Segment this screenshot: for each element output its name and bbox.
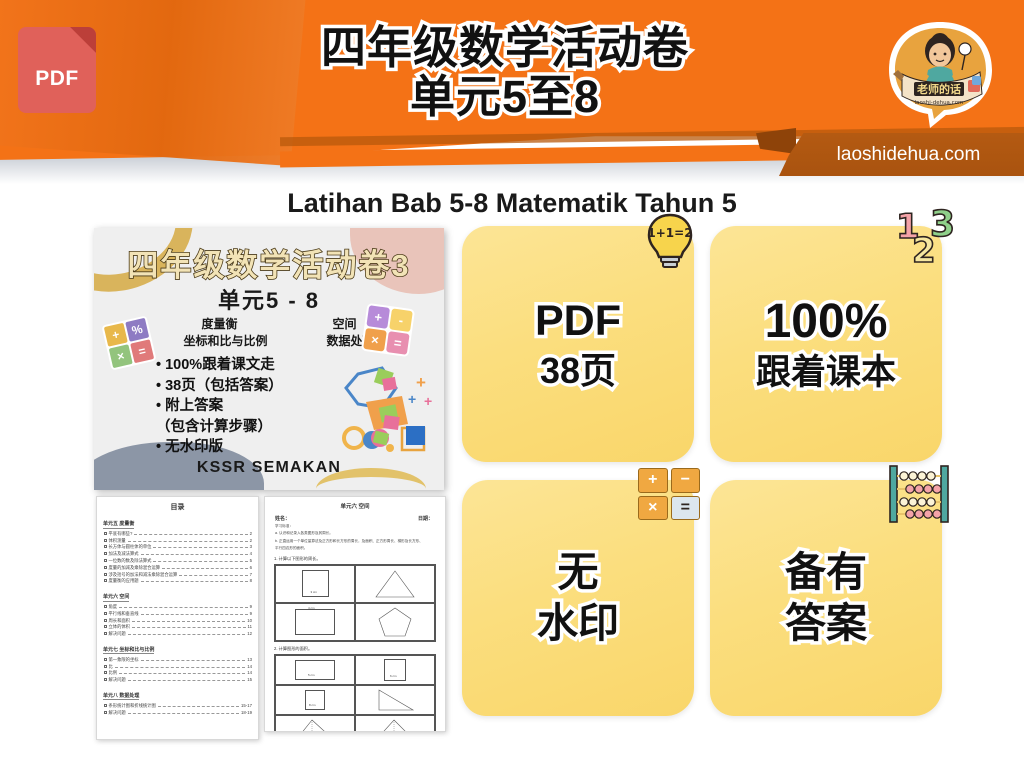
toc-entry-label: 解决问题 — [109, 677, 126, 683]
title-line-1: 四年级数学活动卷 — [195, 24, 815, 73]
checkbox-icon — [104, 532, 107, 535]
toc-entry-label: 周长和面积 — [109, 618, 130, 624]
shape-cell-triangle-2 — [275, 715, 355, 732]
shape-cell-square-3: 8 cm — [275, 685, 355, 715]
toc-entry: 角度9 — [104, 604, 252, 610]
toc-entry-page: 2 — [250, 531, 252, 536]
toc-entry-label: 第一象限的坐标 — [109, 657, 139, 663]
shape-label-5: 8 cm — [309, 703, 316, 707]
checkbox-icon — [104, 552, 107, 555]
toc-section-heading: 单元七 坐标和比与比例 — [103, 646, 154, 655]
worksheet-name-field: 姓名： — [275, 515, 290, 522]
worksheet-heading: 单元六 空间 — [265, 502, 445, 510]
checkbox-icon — [104, 671, 107, 674]
toc-entry: 第一象限的坐标13 — [104, 657, 252, 663]
toc-entry-page: 12 — [247, 631, 252, 636]
card-1-line-2: 38页 — [540, 350, 616, 391]
shape-cell-triangle — [355, 565, 435, 603]
worksheet-shape-grid-2: 5 cm 6 cm 8 cm — [274, 654, 436, 732]
toc-entry: 度量衡的应用题8 — [104, 578, 252, 584]
worksheet-objective-2: b. 正直运用一个单位量算法及正方形和长方形的周长，及面积、正方形周长、梯形及长… — [275, 539, 435, 544]
math-operators-icon: + − × = — [638, 468, 700, 520]
website-ribbon: laoshidehua.com — [779, 133, 1024, 176]
toc-entry: 体积测量2 — [104, 538, 252, 544]
toc-entry-page: 5 — [250, 558, 252, 563]
checkbox-icon — [104, 665, 107, 668]
toc-leader-dots — [179, 575, 247, 576]
shape-label-4: 6 cm — [390, 674, 397, 678]
toc-entry-page: 18-19 — [241, 710, 252, 715]
toc-entry-page: 15 — [247, 677, 252, 682]
checkbox-icon — [104, 559, 107, 562]
page-title: 四年级数学活动卷 单元5至8 — [195, 24, 815, 121]
toc-entry-page: 14 — [247, 664, 252, 669]
lightbulb-icon: 1+1=2 — [638, 210, 702, 274]
toc-leader-dots — [153, 561, 247, 562]
checkbox-icon — [104, 612, 107, 615]
title-line-2: 单元5至8 — [195, 73, 815, 122]
checkbox-icon — [104, 573, 107, 576]
toc-entry-label: 度量衡的应用题 — [109, 578, 139, 584]
toc-entry-label: 平行线和垂直线 — [109, 611, 139, 617]
svg-text:+: + — [424, 393, 432, 409]
toc-leader-dots — [115, 667, 245, 668]
checkbox-icon — [104, 711, 107, 714]
toc-page-preview: 目录 单元五 度量衡平底有哪些?2体积测量2长方体与圆柱体的单位3加法及减法算式… — [96, 496, 259, 740]
card-4-line-2: 答案 — [785, 600, 867, 647]
toc-entry-page: 6 — [250, 565, 252, 570]
checkbox-icon — [104, 678, 107, 681]
worksheet-fields: 姓名： 日期： — [275, 515, 433, 522]
toc-leader-dots — [132, 627, 246, 628]
toc-leader-dots — [153, 547, 247, 548]
calc-key-plus: + — [104, 323, 128, 347]
toc-entry-page: 14 — [247, 670, 252, 675]
toc-leader-dots — [134, 534, 247, 535]
toc-entry: 平底有哪些?2 — [104, 531, 252, 537]
toc-leader-dots — [119, 673, 245, 674]
calc2-key-times: × — [363, 328, 387, 352]
cover-bullet-5: 无水印版 — [156, 437, 283, 458]
cover-topic-3: 坐标和比与比例 — [183, 333, 267, 350]
feature-card-follows-textbook[interactable]: 1 3 2 100% 跟着课本 — [710, 226, 942, 462]
toc-entry: 涉及括号的加法和减法乘除混合运算7 — [104, 572, 252, 578]
toc-leader-dots — [141, 581, 248, 582]
feature-cards: 1+1=2 PDF 38页 1 3 2 100% 跟着课本 + − × = 无 … — [462, 226, 1007, 734]
svg-text:老师的话: 老师的话 — [916, 82, 961, 96]
toc-entry: 解决问题18-19 — [104, 710, 252, 716]
op-equals-icon: = — [671, 496, 701, 521]
shape-label-1: 3 cm — [311, 590, 318, 594]
toc-entry-page: 4 — [250, 551, 252, 556]
svg-text:1+1=2: 1+1=2 — [647, 226, 692, 240]
cover-bullet-4: （包含计算步骤） — [156, 417, 283, 438]
toc-leader-dots — [132, 621, 245, 622]
worksheet-objective-1: a. 认识和记录入各类图形及其周长。 — [275, 531, 435, 536]
toc-entry-label: 度量的加减及乘除混合运算 — [109, 565, 161, 571]
cover-syllabus-label: KSSR SEMAKAN — [94, 459, 444, 477]
feature-card-pdf-pages[interactable]: 1+1=2 PDF 38页 — [462, 226, 694, 462]
logo-face — [929, 43, 951, 67]
checkbox-icon — [104, 579, 107, 582]
feature-card-answers-included[interactable]: 备有 答案 — [710, 480, 942, 716]
op-plus-icon: + — [638, 468, 668, 493]
op-times-icon: × — [638, 496, 668, 521]
checkbox-icon — [104, 625, 107, 628]
toc-entry-label: 体积测量 — [109, 538, 126, 544]
pdf-icon-label: PDF — [18, 67, 96, 91]
toc-leader-dots — [162, 568, 248, 569]
toc-entry-label: 比例 — [109, 670, 118, 676]
calc2-key-minus: - — [389, 308, 413, 332]
cover-bullet-3: 附上答案 — [156, 396, 283, 417]
svg-text:laoshi-dehua.com: laoshi-dehua.com — [915, 100, 964, 106]
document-page-previews: 目录 单元五 度量衡平底有哪些?2体积测量2长方体与圆柱体的单位3加法及减法算式… — [88, 496, 448, 740]
toc-entry-label: 条形统计图和折线统计图 — [109, 703, 156, 709]
cover-bullet-1: 100%跟着课文走 — [156, 355, 283, 376]
card-4-line-1: 备有 — [785, 549, 867, 596]
cover-topic-2: 空间 — [332, 316, 356, 333]
abacus-icon — [886, 464, 952, 524]
brand-logo: 老师的话 laoshi-dehua.com — [884, 18, 996, 130]
worksheet-question-2: 2. 计算图形的面积。 — [274, 646, 445, 652]
op-minus-icon: − — [671, 468, 701, 493]
toc-entry: 度量的加减及乘除混合运算6 — [104, 565, 252, 571]
shape-label-3: 5 cm — [308, 673, 315, 677]
shape-cell-rectangle: 4 cm — [275, 603, 355, 641]
calc-key-equals: = — [130, 339, 154, 363]
svg-text:2: 2 — [912, 231, 936, 271]
calc-key-times: × — [109, 344, 133, 368]
cover-title: 四年级数学活动卷3 — [94, 240, 444, 285]
toc-entry-page: 7 — [250, 572, 252, 577]
shape-cell-square-2: 6 cm — [355, 655, 435, 685]
toc-leader-dots — [141, 554, 248, 555]
calculator-keys-icon-2: + - × = — [361, 303, 415, 357]
worksheet-shape-grid-1: 3 cm 4 cm — [274, 564, 436, 642]
toc-entry-page: 15-17 — [241, 703, 252, 708]
toc-leader-dots — [141, 660, 246, 661]
worksheet-date-field: 日期： — [418, 515, 433, 522]
cover-bullet-2: 38页（包括答案） — [156, 376, 283, 397]
checkbox-icon — [104, 658, 107, 661]
toc-leader-dots — [128, 541, 248, 542]
toc-section-heading: 单元八 数据处理 — [103, 692, 139, 701]
worksheet-objective-3: 平行四边形的面积。 — [275, 546, 435, 551]
shape-cell-triangle-3 — [355, 715, 435, 732]
toc-entry-label: 涉及括号的加法和减法乘除混合运算 — [109, 572, 178, 578]
cover-decor-shapes: + + + — [330, 366, 440, 461]
toc-entry-page: 9 — [250, 611, 252, 616]
toc-entry: 立体的体积11 — [104, 624, 252, 630]
pdf-file-icon: PDF — [18, 27, 96, 113]
toc-entry-page: 2 — [250, 538, 252, 543]
shape-cell-rect-2: 5 cm — [275, 655, 355, 685]
toc-entry: 平行线和垂直线9 — [104, 611, 252, 617]
calc2-key-plus: + — [366, 305, 390, 329]
toc-entry-label: 立体的体积 — [109, 624, 130, 630]
toc-entry-label: 加法及减法算式 — [109, 551, 139, 557]
card-2-line-1: 100% — [765, 294, 888, 349]
checkbox-icon — [104, 704, 107, 707]
toc-entry: 解决问题12 — [104, 631, 252, 637]
toc-entry: 条形统计图和折线统计图15-17 — [104, 703, 252, 709]
toc-section-heading: 单元六 空间 — [103, 593, 129, 602]
shape-cell-right-triangle — [355, 685, 435, 715]
book-cover-preview: 四年级数学活动卷3 单元5 - 8 度量衡 空间 坐标和比与比例 数据处理 + … — [94, 228, 444, 490]
toc-leader-dots — [128, 680, 246, 681]
cover-feature-list: 100%跟着课文走 38页（包括答案） 附上答案 （包含计算步骤） 无水印版 — [156, 355, 283, 458]
toc-entry-label: 比 — [109, 664, 113, 670]
card-3-line-2: 水印 — [537, 600, 619, 647]
toc-section-heading: 单元五 度量衡 — [103, 520, 134, 529]
toc-entry-page: 11 — [248, 624, 252, 629]
calc2-key-equals: = — [386, 331, 410, 355]
toc-leader-dots — [141, 614, 248, 615]
toc-entry: 周长和面积10 — [104, 618, 252, 624]
calc-key-percent: % — [125, 318, 149, 342]
toc-entry-label: 长方体与圆柱体的单位 — [109, 544, 152, 550]
shape-cell-pentagon — [355, 603, 435, 641]
checkbox-icon — [104, 632, 107, 635]
page-subtitle: Latihan Bab 5-8 Matematik Tahun 5 — [0, 188, 1024, 219]
card-1-line-1: PDF — [535, 297, 621, 346]
toc-entry-label: 解决问题 — [109, 710, 126, 716]
toc-entry: 一位数的数及除法算式5 — [104, 558, 252, 564]
toc-entry: 解决问题15 — [104, 677, 252, 683]
website-url: laoshidehua.com — [823, 144, 981, 166]
checkbox-icon — [104, 566, 107, 569]
svg-text:+: + — [416, 373, 426, 392]
feature-card-no-watermark[interactable]: + − × = 无 水印 — [462, 480, 694, 716]
worksheet-objective-title: 学习标准： — [275, 524, 435, 529]
toc-entry-page: 13 — [247, 657, 252, 662]
worksheet-question-1: 1. 计算以下图形的周长。 — [274, 556, 445, 562]
checkbox-icon — [104, 545, 107, 548]
toc-entry-page: 10 — [247, 618, 252, 623]
toc-title: 目录 — [97, 502, 258, 512]
toc-entry: 加法及减法算式4 — [104, 551, 252, 557]
toc-entry-label: 角度 — [109, 604, 118, 610]
toc-entry: 比例14 — [104, 670, 252, 676]
card-3-line-1: 无 — [558, 549, 599, 596]
toc-body: 单元五 度量衡平底有哪些?2体积测量2长方体与圆柱体的单位3加法及减法算式4一位… — [97, 512, 258, 716]
preview-column: 四年级数学活动卷3 单元5 - 8 度量衡 空间 坐标和比与比例 数据处理 + … — [88, 228, 448, 740]
worksheet-page-preview: 单元六 空间 姓名： 日期： 学习标准： a. 认识和记录入各类图形及其周长。 … — [264, 496, 446, 732]
checkbox-icon — [104, 619, 107, 622]
toc-leader-dots — [158, 706, 239, 707]
toc-entry-page: 9 — [250, 604, 252, 609]
card-2-line-2: 跟着课本 — [756, 353, 896, 393]
toc-entry: 比14 — [104, 664, 252, 670]
shape-cell-square: 3 cm — [275, 565, 355, 603]
checkbox-icon — [104, 539, 107, 542]
toc-entry-page: 8 — [250, 578, 252, 583]
toc-leader-dots — [128, 713, 239, 714]
cover-topic-1: 度量衡 — [201, 316, 237, 333]
svg-text:+: + — [408, 391, 416, 407]
calculator-keys-icon: + % × = — [101, 315, 156, 370]
checkbox-icon — [104, 605, 107, 608]
toc-entry: 长方体与圆柱体的单位3 — [104, 544, 252, 550]
toc-entry-label: 一位数的数及除法算式 — [109, 558, 152, 564]
toc-entry-label: 解决问题 — [109, 631, 126, 637]
toc-leader-dots — [119, 607, 248, 608]
toc-leader-dots — [128, 634, 246, 635]
toc-entry-label: 平底有哪些? — [109, 531, 133, 537]
toc-entry-page: 3 — [250, 544, 252, 549]
shape-label-2: 4 cm — [308, 606, 315, 610]
